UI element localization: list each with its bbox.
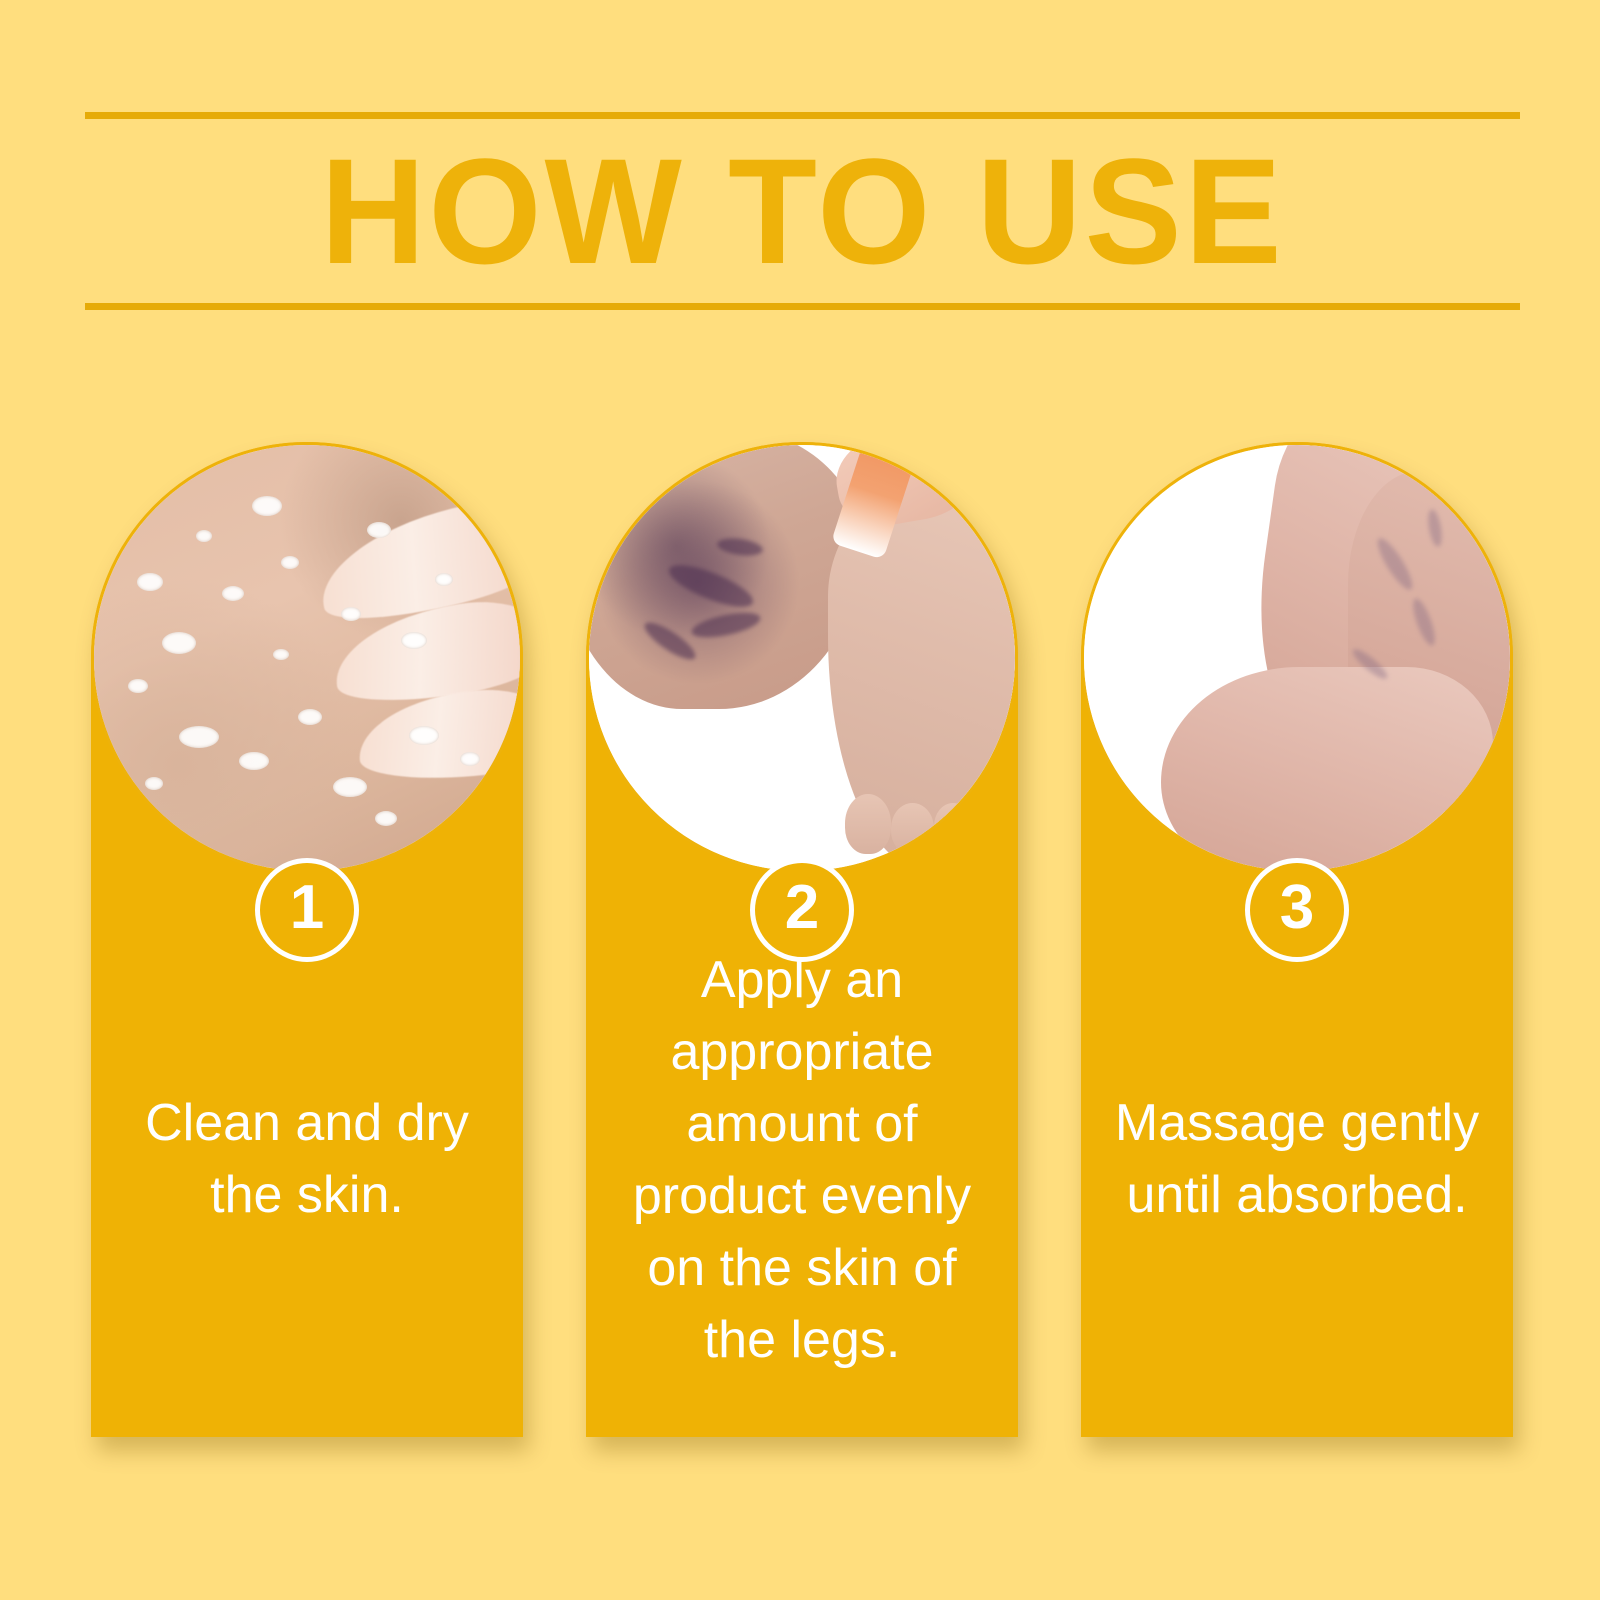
title-rule-bottom [85, 303, 1520, 310]
step-card-3[interactable]: 3 Massage gently until absorbed. [1081, 442, 1513, 1437]
step-1-number-badge: 1 [255, 858, 359, 962]
steps-container: 1 Clean and dry the skin. 2 [91, 442, 1513, 1437]
step-1-photo [91, 442, 523, 874]
step-3-photo [1081, 442, 1513, 874]
step-1-number: 1 [290, 877, 324, 939]
title-rule-top [85, 112, 1520, 119]
applying-cream-to-ankle-photo [589, 445, 1015, 871]
step-card-1[interactable]: 1 Clean and dry the skin. [91, 442, 523, 1437]
step-1-description: Clean and dry the skin. [119, 1087, 495, 1231]
step-2-description: Apply an appropriate amount of product e… [614, 944, 990, 1376]
step-2-photo [586, 442, 1018, 874]
step-card-2[interactable]: 2 Apply an appropriate amount of product… [586, 442, 1018, 1437]
step-3-number-badge: 3 [1245, 858, 1349, 962]
hands-massaging-foot-photo [1084, 445, 1510, 871]
step-3-number: 3 [1280, 877, 1314, 939]
step-2-number: 2 [785, 877, 819, 939]
step-3-description: Massage gently until absorbed. [1109, 1087, 1485, 1231]
title-block: HOW TO USE [85, 112, 1520, 310]
soapy-foam-on-skin-photo [94, 445, 520, 871]
page-title: HOW TO USE [107, 125, 1499, 297]
